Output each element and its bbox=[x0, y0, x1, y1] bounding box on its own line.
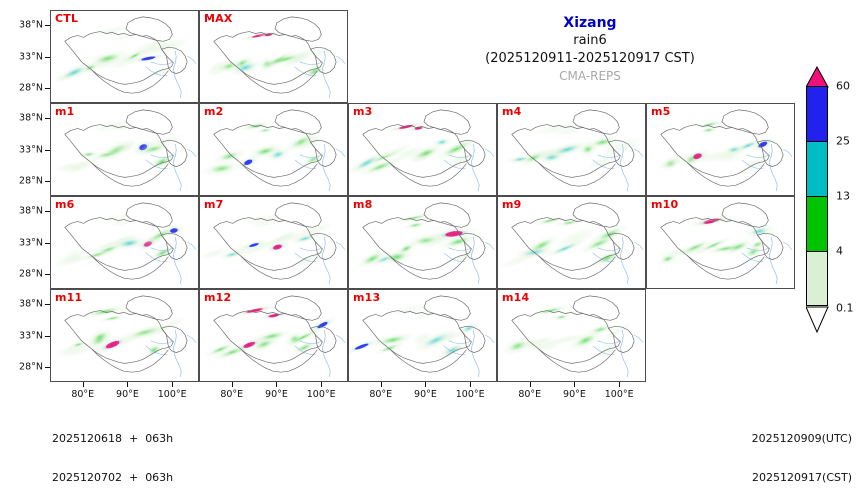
footer-right-line2: 2025120917(CST) bbox=[752, 471, 852, 484]
lat-tick-mark bbox=[45, 336, 50, 337]
lon-tick-mark bbox=[83, 382, 84, 387]
lon-tick-label: 90°E bbox=[414, 389, 437, 400]
footer-left: 2025120618 + 063h 2025120702 + 063h bbox=[52, 406, 173, 497]
colorbar-tick-label: 4 bbox=[836, 245, 843, 258]
panel-label: m13 bbox=[353, 291, 380, 304]
colorbar-band-25-60 bbox=[806, 86, 828, 141]
lon-tick-label: 90°E bbox=[563, 389, 586, 400]
panel-label: m9 bbox=[502, 198, 522, 211]
panel-label: m5 bbox=[651, 105, 671, 118]
lon-tick-mark bbox=[530, 382, 531, 387]
lon-tick-mark bbox=[127, 382, 128, 387]
lon-tick-label: 90°E bbox=[116, 389, 139, 400]
panel-label: m10 bbox=[651, 198, 678, 211]
lat-tick-mark bbox=[45, 88, 50, 89]
colorbar-band-0.1-4 bbox=[806, 251, 828, 306]
axis-layer: 38°N33°N28°N38°N33°N28°N38°N33°N28°N38°N… bbox=[0, 0, 860, 448]
lat-tick-mark bbox=[45, 211, 50, 212]
lat-tick-label: 33°N bbox=[19, 144, 43, 155]
panel-label: m4 bbox=[502, 105, 522, 118]
lon-tick-label: 90°E bbox=[265, 389, 288, 400]
lon-tick-label: 100°E bbox=[158, 389, 187, 400]
panel-label: m1 bbox=[55, 105, 75, 118]
panel-label: m12 bbox=[204, 291, 231, 304]
colorbar: 60251340.1 bbox=[806, 64, 856, 334]
lat-tick-mark bbox=[45, 25, 50, 26]
colorbar-tick-label: 13 bbox=[836, 190, 850, 203]
lat-tick-mark bbox=[45, 118, 50, 119]
lat-tick-label: 33°N bbox=[19, 330, 43, 341]
lat-tick-label: 28°N bbox=[19, 362, 43, 373]
lon-tick-mark bbox=[425, 382, 426, 387]
panel-label: m8 bbox=[353, 198, 373, 211]
lat-tick-mark bbox=[45, 150, 50, 151]
panel-label: m6 bbox=[55, 198, 75, 211]
lat-tick-mark bbox=[45, 367, 50, 368]
lat-tick-label: 28°N bbox=[19, 176, 43, 187]
lat-tick-label: 33°N bbox=[19, 237, 43, 248]
lon-tick-mark bbox=[276, 382, 277, 387]
panel-label: m7 bbox=[204, 198, 224, 211]
lat-tick-mark bbox=[45, 181, 50, 182]
lat-tick-mark bbox=[45, 243, 50, 244]
footer-left-line2: 2025120702 + 063h bbox=[52, 471, 173, 484]
colorbar-tick-label: 25 bbox=[836, 135, 850, 148]
panel-label: m3 bbox=[353, 105, 373, 118]
colorbar-tick-label: 0.1 bbox=[836, 302, 854, 315]
lon-tick-mark bbox=[172, 382, 173, 387]
lat-tick-label: 38°N bbox=[19, 19, 43, 30]
lat-tick-mark bbox=[45, 57, 50, 58]
footer-right: 2025120909(UTC) 2025120917(CST) bbox=[752, 406, 852, 497]
lon-tick-mark bbox=[381, 382, 382, 387]
lon-tick-label: 80°E bbox=[369, 389, 392, 400]
colorbar-tick-label: 60 bbox=[836, 80, 850, 93]
lat-tick-label: 28°N bbox=[19, 269, 43, 280]
footer-right-line1: 2025120909(UTC) bbox=[752, 432, 852, 445]
colorbar-band-4-13 bbox=[806, 196, 828, 251]
colorbar-band-13-25 bbox=[806, 141, 828, 196]
lon-tick-label: 80°E bbox=[220, 389, 243, 400]
panel-label: m14 bbox=[502, 291, 529, 304]
lat-tick-label: 38°N bbox=[19, 205, 43, 216]
panel-label: m11 bbox=[55, 291, 82, 304]
footer-left-line1: 2025120618 + 063h bbox=[52, 432, 173, 445]
lon-tick-mark bbox=[619, 382, 620, 387]
lon-tick-mark bbox=[232, 382, 233, 387]
lon-tick-label: 80°E bbox=[71, 389, 94, 400]
lon-tick-mark bbox=[321, 382, 322, 387]
lat-tick-label: 38°N bbox=[19, 298, 43, 309]
lon-tick-mark bbox=[574, 382, 575, 387]
lat-tick-label: 38°N bbox=[19, 112, 43, 123]
lon-tick-label: 100°E bbox=[605, 389, 634, 400]
lat-tick-mark bbox=[45, 274, 50, 275]
panel-label: MAX bbox=[204, 12, 233, 25]
panel-label: CTL bbox=[55, 12, 78, 25]
lon-tick-label: 100°E bbox=[456, 389, 485, 400]
lon-tick-label: 100°E bbox=[307, 389, 336, 400]
lat-tick-mark bbox=[45, 304, 50, 305]
panel-label: m2 bbox=[204, 105, 224, 118]
lon-tick-label: 80°E bbox=[518, 389, 541, 400]
lon-tick-mark bbox=[470, 382, 471, 387]
lat-tick-label: 28°N bbox=[19, 83, 43, 94]
lat-tick-label: 33°N bbox=[19, 51, 43, 62]
